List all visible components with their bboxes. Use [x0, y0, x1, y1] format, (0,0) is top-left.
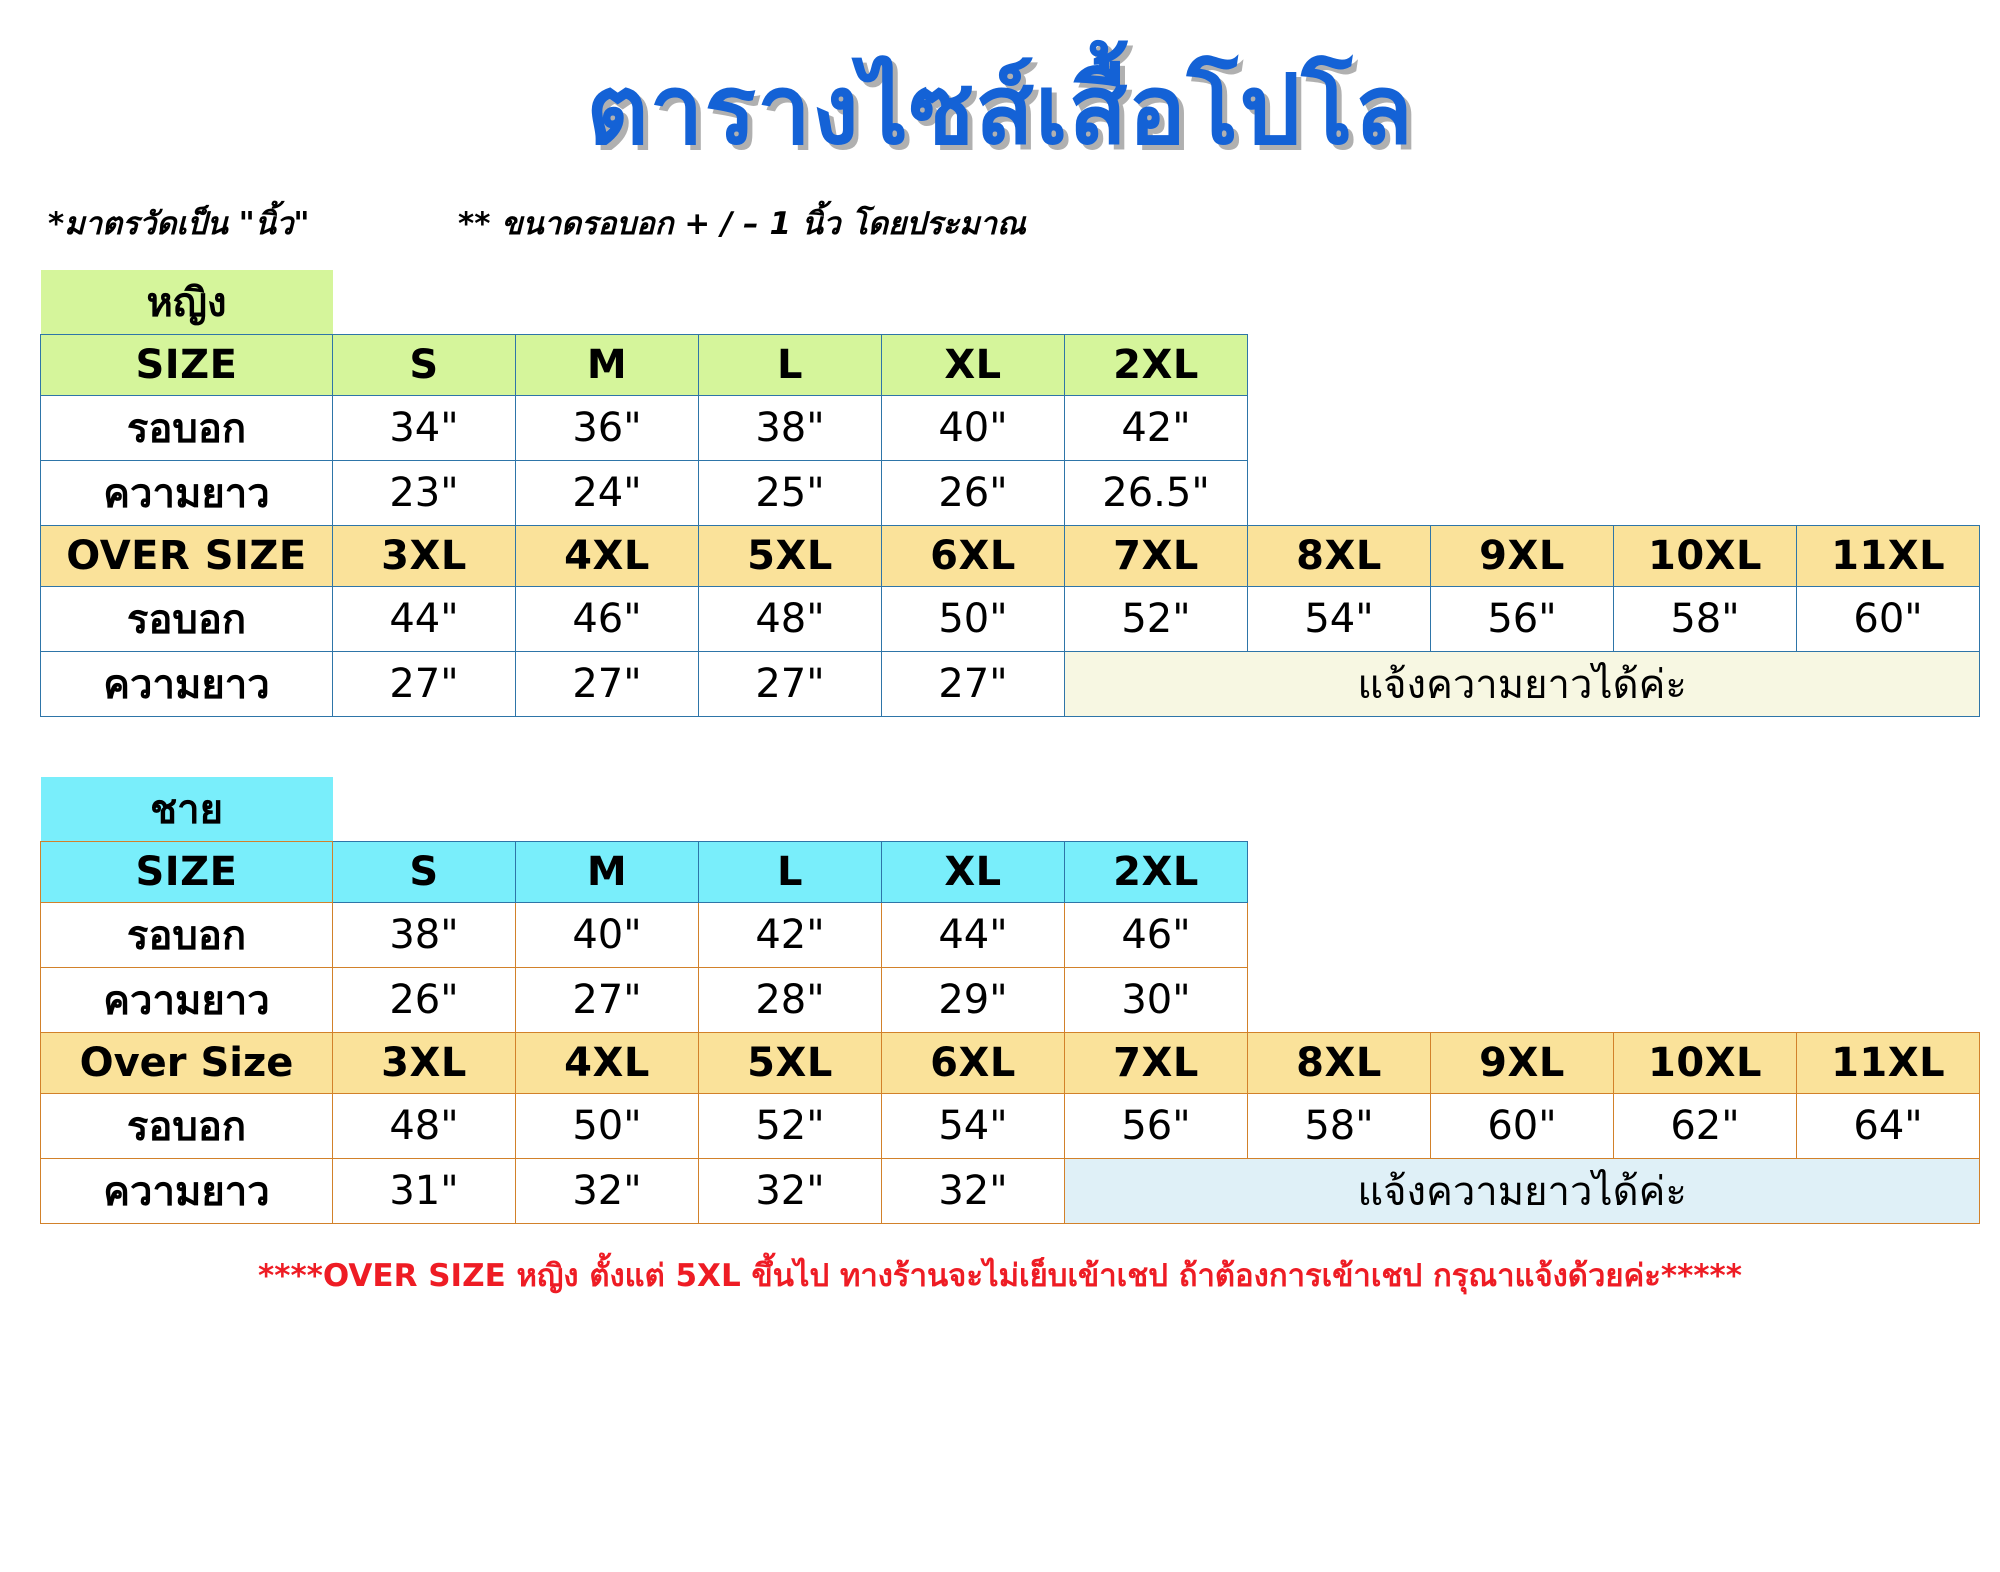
women-oversize-chest-5xl: 48" — [699, 587, 882, 652]
men-oversize-chest-7xl: 56" — [1065, 1094, 1248, 1159]
men-oversize-label: Over Size — [41, 1033, 333, 1094]
men-size-s: S — [333, 842, 516, 903]
women-oversize-chest-6xl: 50" — [882, 587, 1065, 652]
men-group-tag-row: ชาย — [41, 777, 1980, 842]
women-oversize-chest-8xl: 54" — [1248, 587, 1431, 652]
women-size-header-row: SIZE S M L XL 2XL — [41, 335, 1980, 396]
table-row: รอบอก 38" 40" 42" 44" 46" — [41, 903, 1980, 968]
men-chest-label: รอบอก — [41, 903, 333, 968]
measurement-notes: *มาตรวัดเป็น "นิ้ว" ** ขนาดรอบอก + / – 1… — [0, 198, 2000, 248]
women-chest-l: 38" — [699, 396, 882, 461]
women-oversize-length-4xl: 27" — [516, 652, 699, 717]
women-size-s: S — [333, 335, 516, 396]
men-size-table: ชาย SIZE S M L XL 2XL รอบอก 38" 40" 42" … — [40, 777, 1980, 1224]
women-group-tag-row: หญิง — [41, 270, 1980, 335]
men-oversize-length-5xl: 32" — [699, 1159, 882, 1224]
women-oversize-label: OVER SIZE — [41, 526, 333, 587]
men-oversize-chest-8xl: 58" — [1248, 1094, 1431, 1159]
men-size-header-row: SIZE S M L XL 2XL — [41, 842, 1980, 903]
men-oversize-11xl: 11XL — [1797, 1033, 1980, 1094]
women-length-2xl: 26.5" — [1065, 461, 1248, 526]
women-length-s: 23" — [333, 461, 516, 526]
men-oversize-length-label: ความยาว — [41, 1159, 333, 1224]
men-oversize-chest-4xl: 50" — [516, 1094, 699, 1159]
women-chest-m: 36" — [516, 396, 699, 461]
women-oversize-8xl: 8XL — [1248, 526, 1431, 587]
women-oversize-header-row: OVER SIZE 3XL 4XL 5XL 6XL 7XL 8XL 9XL 10… — [41, 526, 1980, 587]
women-size-m: M — [516, 335, 699, 396]
women-size-header: SIZE — [41, 335, 333, 396]
men-size-xl: XL — [882, 842, 1065, 903]
women-length-label: ความยาว — [41, 461, 333, 526]
men-length-on-request-note: แจ้งความยาวได้ค่ะ — [1065, 1159, 1980, 1224]
empty-cell — [1248, 842, 1980, 903]
men-size-m: M — [516, 842, 699, 903]
table-row: ความยาว 23" 24" 25" 26" 26.5" — [41, 461, 1980, 526]
women-length-m: 24" — [516, 461, 699, 526]
men-oversize-10xl: 10XL — [1614, 1033, 1797, 1094]
empty-cell — [1248, 396, 1980, 461]
women-oversize-length-5xl: 27" — [699, 652, 882, 717]
men-group-label: ชาย — [41, 777, 333, 842]
women-chest-xl: 40" — [882, 396, 1065, 461]
table-row: รอบอก 34" 36" 38" 40" 42" — [41, 396, 1980, 461]
men-length-2xl: 30" — [1065, 968, 1248, 1033]
table-row: รอบอก 48" 50" 52" 54" 56" 58" 60" 62" 64… — [41, 1094, 1980, 1159]
women-oversize-chest-11xl: 60" — [1797, 587, 1980, 652]
men-chest-xl: 44" — [882, 903, 1065, 968]
men-oversize-length-3xl: 31" — [333, 1159, 516, 1224]
women-size-table: หญิง SIZE S M L XL 2XL รอบอก 34" 36" 38"… — [40, 270, 1980, 777]
men-size-2xl: 2XL — [1065, 842, 1248, 903]
men-oversize-header-row: Over Size 3XL 4XL 5XL 6XL 7XL 8XL 9XL 10… — [41, 1033, 1980, 1094]
empty-cell — [333, 270, 1980, 335]
tolerance-note: ** ขนาดรอบอก + / – 1 นิ้ว โดยประมาณ — [458, 198, 1026, 248]
unit-note: *มาตรวัดเป็น "นิ้ว" — [48, 198, 458, 248]
men-oversize-6xl: 6XL — [882, 1033, 1065, 1094]
table-row: ความยาว 27" 27" 27" 27" แจ้งความยาวได้ค่… — [41, 652, 1980, 717]
men-length-s: 26" — [333, 968, 516, 1033]
women-size-l: L — [699, 335, 882, 396]
men-oversize-7xl: 7XL — [1065, 1033, 1248, 1094]
men-oversize-5xl: 5XL — [699, 1033, 882, 1094]
table-row: ความยาว 31" 32" 32" 32" แจ้งความยาวได้ค่… — [41, 1159, 1980, 1224]
women-oversize-length-label: ความยาว — [41, 652, 333, 717]
men-oversize-chest-5xl: 52" — [699, 1094, 882, 1159]
men-chest-s: 38" — [333, 903, 516, 968]
women-oversize-chest-4xl: 46" — [516, 587, 699, 652]
women-oversize-6xl: 6XL — [882, 526, 1065, 587]
men-length-label: ความยาว — [41, 968, 333, 1033]
women-oversize-length-6xl: 27" — [882, 652, 1065, 717]
men-oversize-9xl: 9XL — [1431, 1033, 1614, 1094]
women-chest-2xl: 42" — [1065, 396, 1248, 461]
women-oversize-3xl: 3XL — [333, 526, 516, 587]
women-oversize-chest-9xl: 56" — [1431, 587, 1614, 652]
men-oversize-chest-9xl: 60" — [1431, 1094, 1614, 1159]
page-title: ตารางไซส์เสื้อโปโล — [0, 0, 2000, 158]
women-length-on-request-note: แจ้งความยาวได้ค่ะ — [1065, 652, 1980, 717]
women-oversize-10xl: 10XL — [1614, 526, 1797, 587]
men-oversize-length-6xl: 32" — [882, 1159, 1065, 1224]
men-oversize-chest-10xl: 62" — [1614, 1094, 1797, 1159]
men-oversize-chest-label: รอบอก — [41, 1094, 333, 1159]
men-chest-2xl: 46" — [1065, 903, 1248, 968]
women-chest-s: 34" — [333, 396, 516, 461]
men-size-l: L — [699, 842, 882, 903]
empty-cell — [1248, 335, 1980, 396]
men-chest-l: 42" — [699, 903, 882, 968]
empty-cell — [1248, 968, 1980, 1033]
men-oversize-chest-6xl: 54" — [882, 1094, 1065, 1159]
men-oversize-chest-3xl: 48" — [333, 1094, 516, 1159]
table-row: ความยาว 26" 27" 28" 29" 30" — [41, 968, 1980, 1033]
men-length-xl: 29" — [882, 968, 1065, 1033]
women-chest-label: รอบอก — [41, 396, 333, 461]
women-length-l: 25" — [699, 461, 882, 526]
men-oversize-3xl: 3XL — [333, 1033, 516, 1094]
women-oversize-11xl: 11XL — [1797, 526, 1980, 587]
empty-cell — [1248, 903, 1980, 968]
empty-cell — [1248, 461, 1980, 526]
men-length-m: 27" — [516, 968, 699, 1033]
men-oversize-length-4xl: 32" — [516, 1159, 699, 1224]
men-oversize-8xl: 8XL — [1248, 1033, 1431, 1094]
section-gap — [41, 717, 1980, 778]
men-chest-m: 40" — [516, 903, 699, 968]
women-group-label: หญิง — [41, 270, 333, 335]
women-oversize-4xl: 4XL — [516, 526, 699, 587]
women-oversize-chest-10xl: 58" — [1614, 587, 1797, 652]
women-oversize-chest-label: รอบอก — [41, 587, 333, 652]
men-oversize-4xl: 4XL — [516, 1033, 699, 1094]
empty-cell — [333, 777, 1980, 842]
oversize-footer-note: ****OVER SIZE หญิง ตั้งแต่ 5XL ขึ้นไป ทา… — [0, 1250, 2000, 1300]
women-oversize-length-3xl: 27" — [333, 652, 516, 717]
women-oversize-9xl: 9XL — [1431, 526, 1614, 587]
men-size-header: SIZE — [41, 842, 333, 903]
women-oversize-7xl: 7XL — [1065, 526, 1248, 587]
women-oversize-chest-3xl: 44" — [333, 587, 516, 652]
table-row: รอบอก 44" 46" 48" 50" 52" 54" 56" 58" 60… — [41, 587, 1980, 652]
women-oversize-chest-7xl: 52" — [1065, 587, 1248, 652]
women-length-xl: 26" — [882, 461, 1065, 526]
men-length-l: 28" — [699, 968, 882, 1033]
men-oversize-chest-11xl: 64" — [1797, 1094, 1980, 1159]
women-size-xl: XL — [882, 335, 1065, 396]
women-size-2xl: 2XL — [1065, 335, 1248, 396]
women-oversize-5xl: 5XL — [699, 526, 882, 587]
